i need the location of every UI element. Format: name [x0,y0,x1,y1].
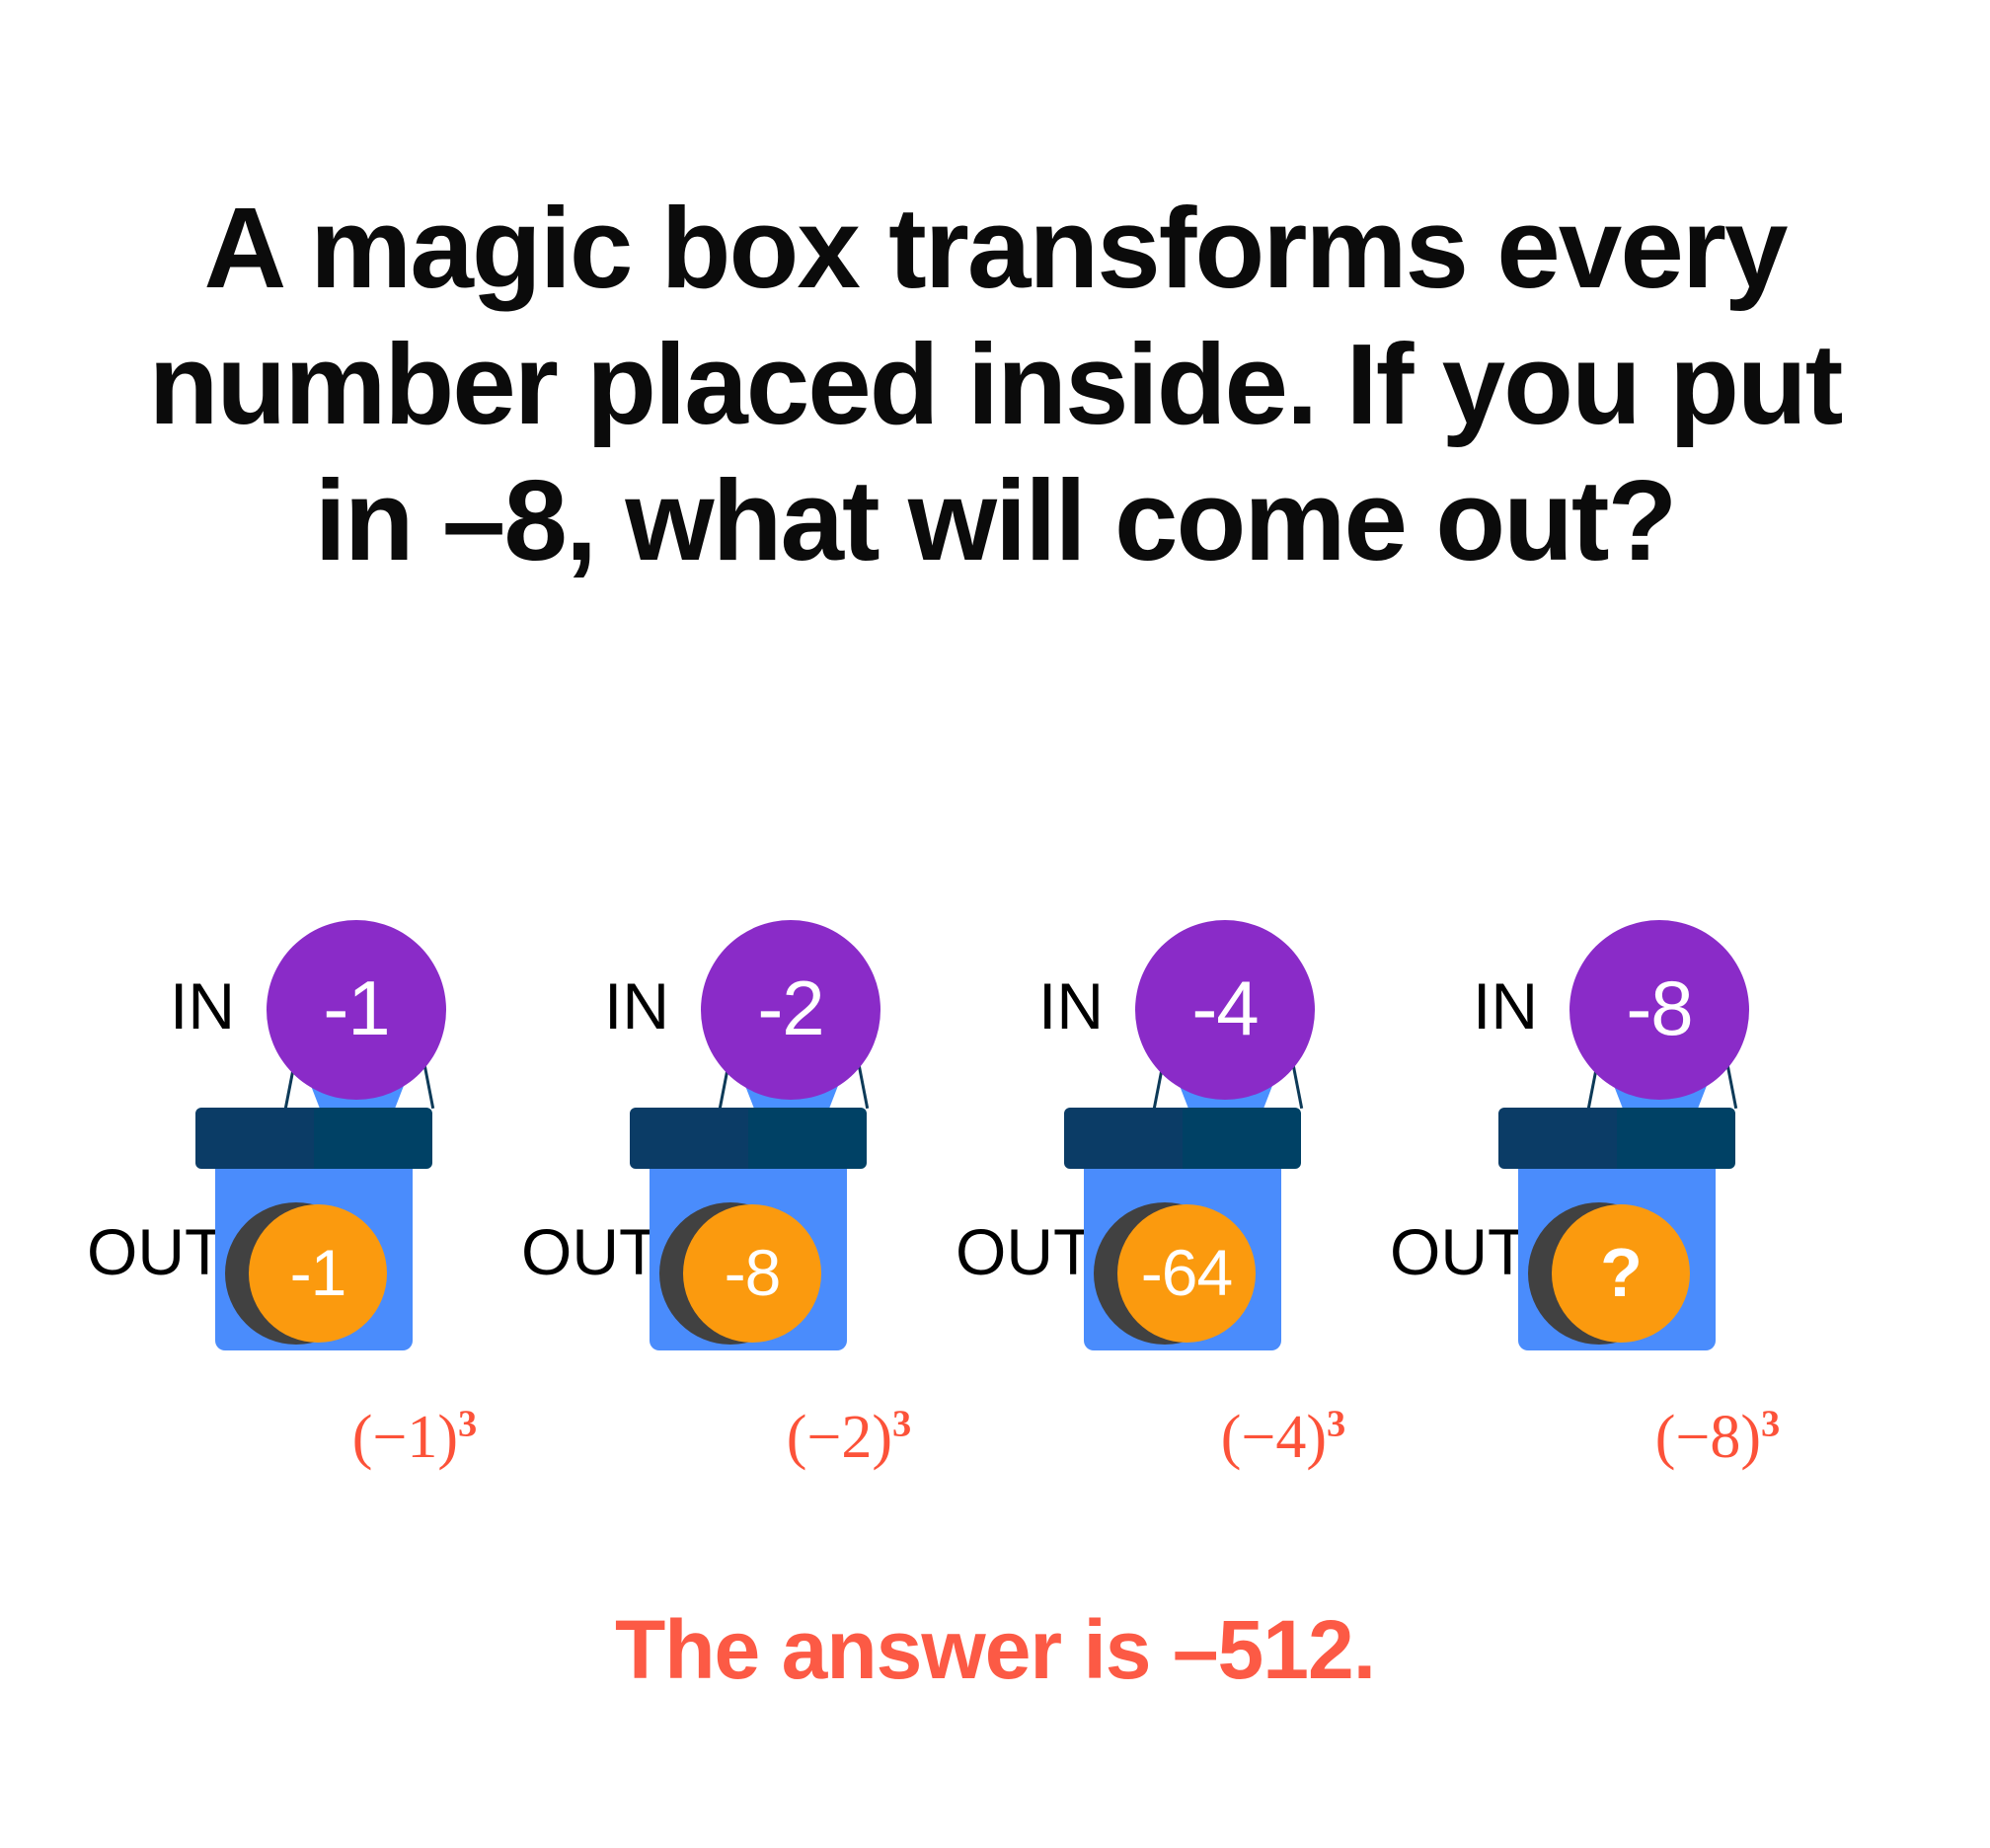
output-value: -64 [1141,1240,1232,1305]
in-label: IN [604,973,669,1039]
title-line-3: in –8, what will come out? [0,452,1990,588]
magic-box-unit: IN OUT -1 -1 [79,888,533,1303]
lid-right-half [1183,1108,1301,1169]
lid-left-half [1064,1108,1183,1169]
in-label: IN [1038,973,1104,1039]
cube-expression: (−8)3 [1500,1390,1935,1485]
magic-box-row: IN OUT -1 -1 IN OUT -2 [0,888,1990,1303]
input-ball: -4 [1135,920,1315,1100]
output-coin: -64 [1117,1204,1256,1343]
output-coin: -8 [683,1204,821,1343]
expression-exponent: 3 [1327,1403,1345,1444]
expression-base: (−1) [352,1404,458,1471]
cube-expression: (−2)3 [632,1390,1066,1485]
lid-right-half [314,1108,432,1169]
box-lid [195,1108,432,1169]
page-title: A magic box transforms every number plac… [0,180,1990,588]
expression-exponent: 3 [458,1403,477,1444]
out-label: OUT [1390,1219,1527,1284]
magic-box-unit: IN OUT -8 ? [1382,888,1836,1303]
lid-left-half [630,1108,748,1169]
output-coin-group: ? [1528,1202,1706,1345]
box-lid [1498,1108,1735,1169]
in-label: IN [1473,973,1538,1039]
output-value: -8 [725,1240,781,1305]
cube-expression: (−1)3 [197,1390,632,1485]
lid-left-half [195,1108,314,1169]
lid-right-half [748,1108,867,1169]
box-lid [1064,1108,1301,1169]
magic-box-unit: IN OUT -4 -64 [948,888,1402,1303]
input-value: -2 [757,969,823,1046]
expression-base: (−2) [787,1404,892,1471]
in-label: IN [170,973,235,1039]
input-value: -1 [323,969,389,1046]
expression-base: (−8) [1655,1404,1761,1471]
output-value: -1 [290,1240,346,1305]
expression-row: (−1)3 (−2)3 (−4)3 (−8)3 [0,1390,1990,1508]
expression-exponent: 3 [1761,1403,1780,1444]
answer-text: The answer is –512. [0,1595,1990,1704]
output-coin-group: -8 [659,1202,837,1345]
expression-exponent: 3 [892,1403,911,1444]
cube-expression: (−4)3 [1066,1390,1500,1485]
out-label: OUT [956,1219,1093,1284]
magic-box-unit: IN OUT -2 -8 [513,888,967,1303]
out-label: OUT [521,1219,658,1284]
output-coin: ? [1552,1204,1690,1343]
out-label: OUT [87,1219,224,1284]
title-line-2: number placed inside. If you put [0,316,1990,452]
lid-left-half [1498,1108,1617,1169]
output-value: ? [1600,1240,1642,1305]
expression-base: (−4) [1221,1404,1327,1471]
output-coin: -1 [249,1204,387,1343]
input-value: -8 [1626,969,1692,1046]
input-value: -4 [1191,969,1258,1046]
box-lid [630,1108,867,1169]
input-ball: -8 [1569,920,1749,1100]
input-ball: -1 [267,920,446,1100]
output-coin-group: -64 [1094,1202,1271,1345]
output-coin-group: -1 [225,1202,403,1345]
input-ball: -2 [701,920,880,1100]
lid-right-half [1617,1108,1735,1169]
title-line-1: A magic box transforms every [0,180,1990,316]
